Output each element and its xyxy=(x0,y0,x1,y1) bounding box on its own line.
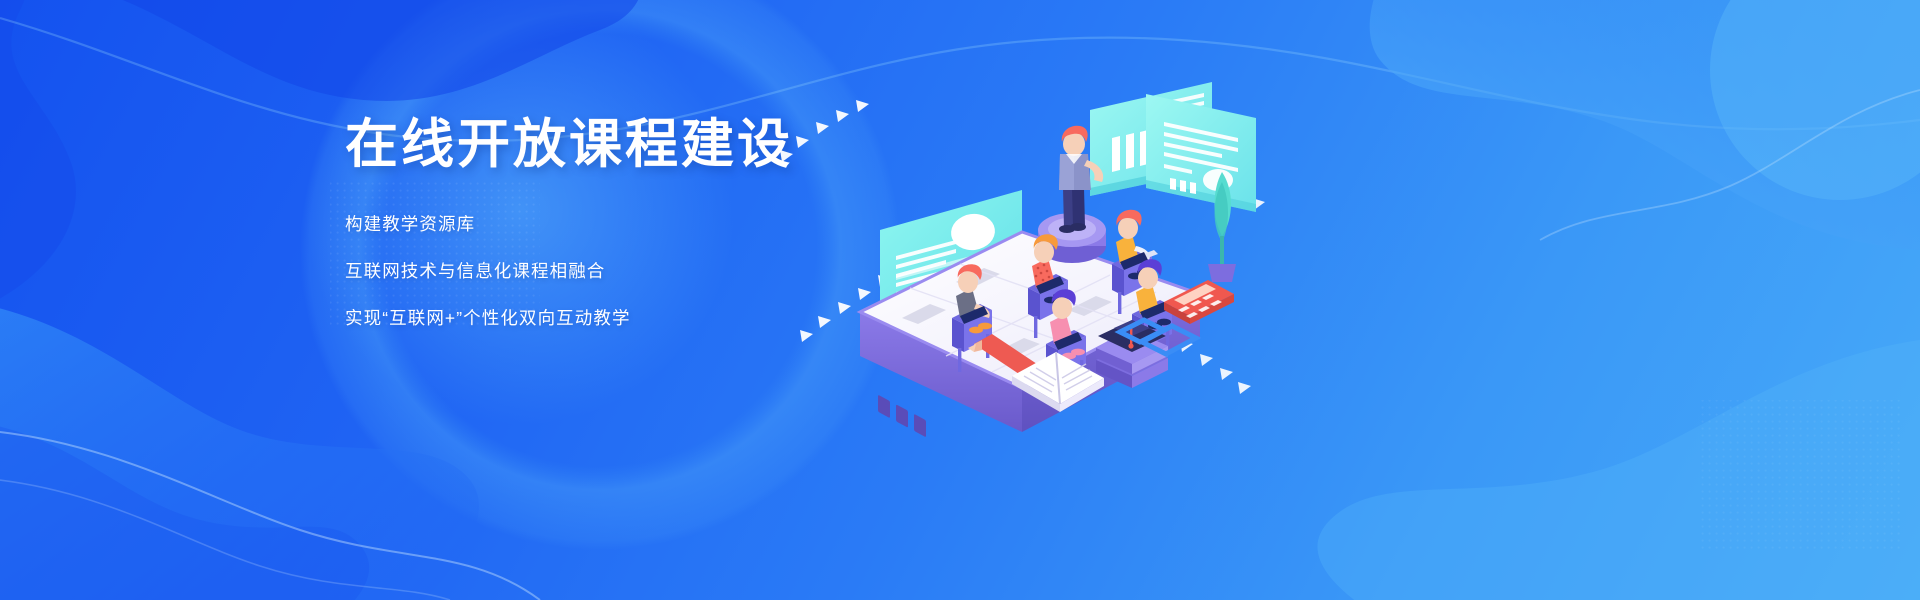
hero-banner: 在线开放课程建设 构建教学资源库 互联网技术与信息化课程相融合 实现“互联网+”… xyxy=(0,0,1920,600)
tablet-buttons xyxy=(878,395,926,438)
classroom-illustration xyxy=(760,60,1280,440)
blob-top-left-2 xyxy=(0,0,76,330)
classroom-illustration-svg xyxy=(760,60,1280,440)
dot-texture-right xyxy=(1700,400,1900,550)
floating-screen-text xyxy=(1146,94,1256,212)
